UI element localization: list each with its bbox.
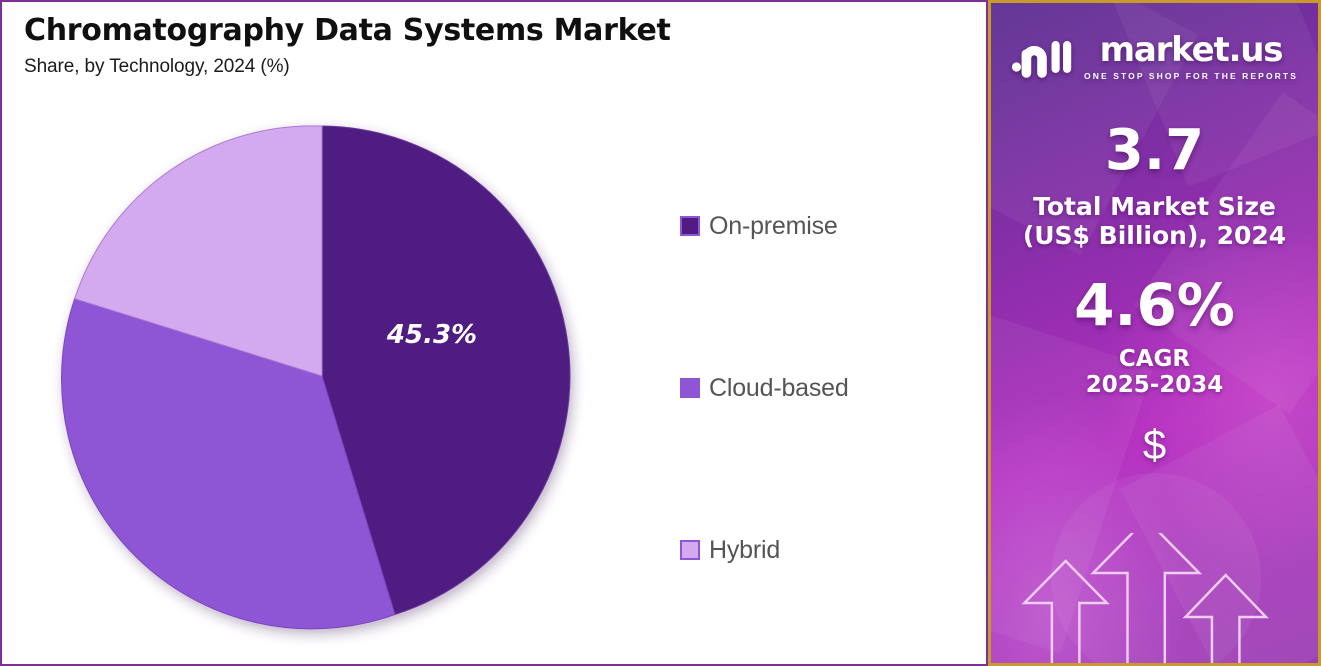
infographic-root: Chromatography Data Systems Market Share… — [0, 0, 1321, 666]
page-title: Chromatography Data Systems Market — [24, 12, 671, 50]
market-size-value: 3.7 — [1105, 123, 1204, 179]
brand-name: market.us — [1100, 33, 1283, 67]
page-subtitle: Share, by Technology, 2024 (%) — [24, 56, 671, 78]
market-size-caption: Total Market Size (US$ Billion), 2024 — [1023, 193, 1286, 250]
legend-item-on-premise[interactable]: On-premise — [680, 210, 970, 242]
chart-panel: Chromatography Data Systems Market Share… — [0, 0, 988, 666]
pie-slice-value-label: 45.3% — [386, 320, 477, 350]
brand-logo-text: market.us ONE STOP SHOP FOR THE REPORTS — [1084, 33, 1298, 81]
legend-item-cloud-based[interactable]: Cloud-based — [680, 372, 970, 404]
dollar-sign-icon: $ — [1143, 424, 1166, 466]
pie-svg: 45.3% — [60, 114, 584, 638]
cagr-caption: CAGR 2025-2034 — [1086, 346, 1224, 398]
market-us-logo-icon — [1011, 35, 1073, 79]
info-panel: market.us ONE STOP SHOP FOR THE REPORTS … — [988, 0, 1321, 666]
pie-slices — [62, 126, 570, 629]
pie-chart: 45.3% — [60, 114, 584, 638]
info-content: market.us ONE STOP SHOP FOR THE REPORTS … — [991, 3, 1318, 663]
legend-swatch-icon — [680, 378, 700, 398]
chart-heading-block: Chromatography Data Systems Market Share… — [24, 12, 671, 78]
market-size-caption-line1: Total Market Size — [1033, 192, 1276, 221]
legend-label: Cloud-based — [709, 374, 849, 403]
legend-swatch-icon — [680, 216, 700, 236]
cagr-caption-line2: 2025-2034 — [1086, 372, 1224, 398]
brand-logo[interactable]: market.us ONE STOP SHOP FOR THE REPORTS — [1011, 33, 1298, 81]
cagr-value: 4.6% — [1074, 276, 1235, 334]
legend-label: On-premise — [709, 212, 838, 241]
legend-item-hybrid[interactable]: Hybrid — [680, 534, 970, 566]
brand-tagline: ONE STOP SHOP FOR THE REPORTS — [1084, 71, 1298, 81]
legend-label: Hybrid — [709, 536, 780, 565]
legend-swatch-icon — [680, 540, 700, 560]
cagr-caption-line1: CAGR — [1119, 346, 1190, 372]
chart-legend: On-premise Cloud-based Hybrid — [680, 210, 970, 566]
market-size-caption-line2: (US$ Billion), 2024 — [1023, 221, 1286, 250]
